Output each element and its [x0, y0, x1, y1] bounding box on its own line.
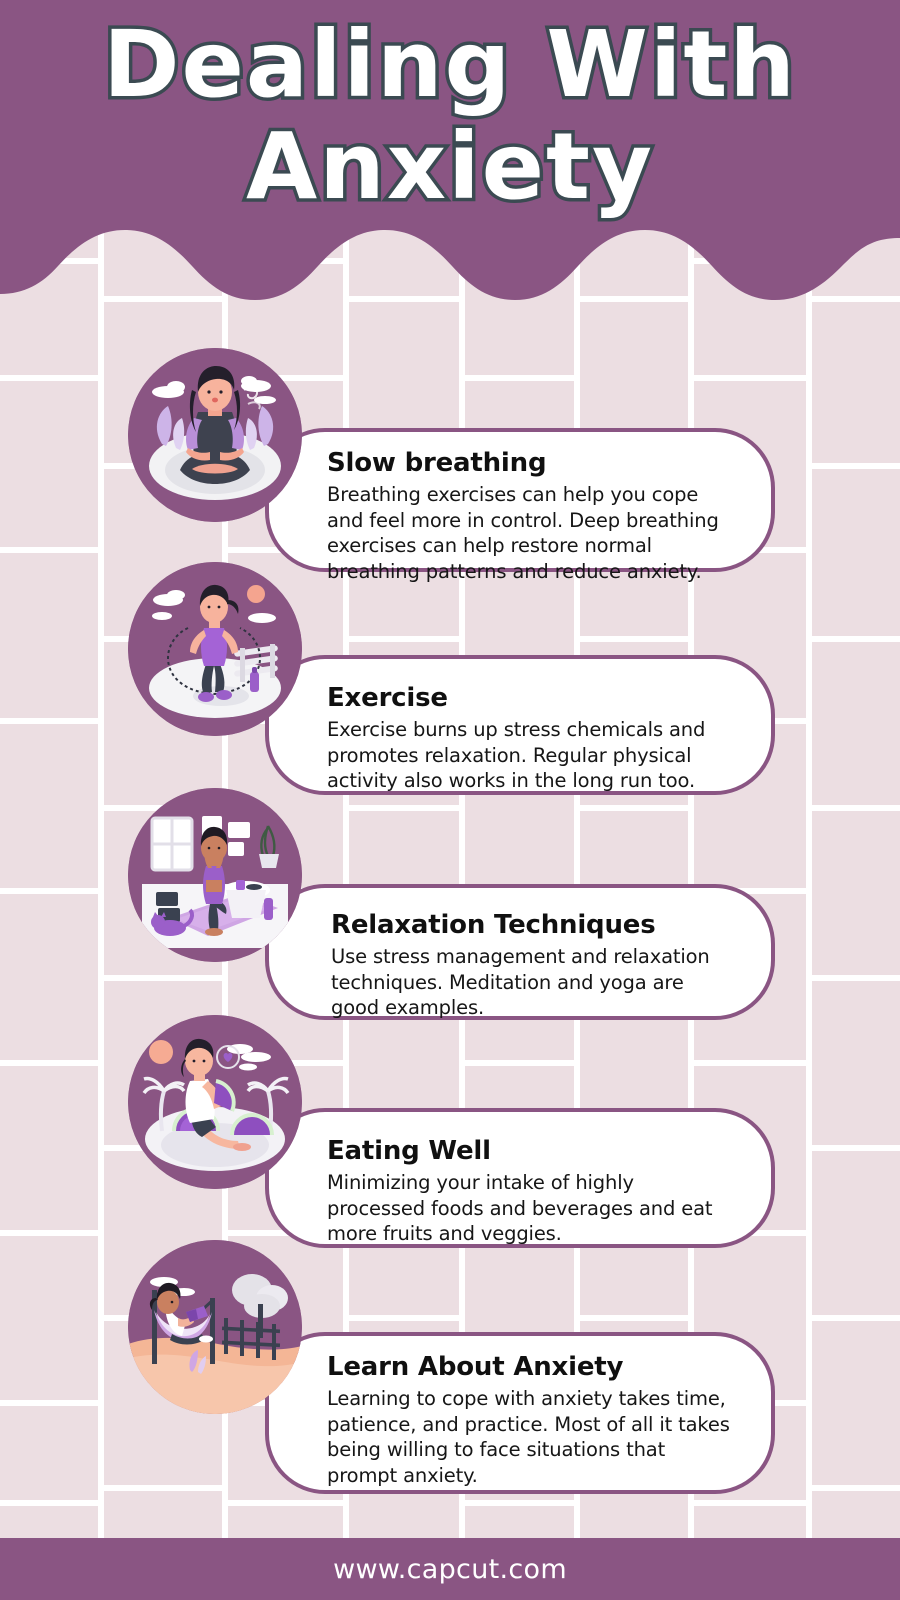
grid-line-horizontal: [0, 1060, 98, 1066]
grid-line-horizontal: [574, 805, 688, 811]
grid-line-horizontal: [806, 463, 900, 469]
grid-line-horizontal: [806, 1485, 900, 1491]
yoga-woman-icon: [128, 788, 302, 962]
footer-url[interactable]: www.capcut.com: [333, 1554, 567, 1585]
grid-line-horizontal: [459, 1500, 574, 1506]
tip-card: Eating Well Minimizing your intake of hi…: [265, 1108, 775, 1248]
tip-card: Exercise Exercise burns up stress chemic…: [265, 655, 775, 795]
grid-line-horizontal: [98, 1485, 222, 1491]
grid-line-horizontal: [574, 636, 688, 642]
grid-line-horizontal: [0, 547, 98, 553]
tip-card: Relaxation Techniques Use stress managem…: [265, 884, 775, 1020]
infographic-poster: Dealing With Anxiety: [0, 0, 900, 1600]
grid-line-horizontal: [0, 1230, 98, 1236]
grid-line-horizontal: [688, 375, 806, 381]
tip-card-heading: Slow breathing: [327, 446, 737, 480]
grid-line-horizontal: [806, 1315, 900, 1321]
grid-line-horizontal: [806, 975, 900, 981]
meditation-woman-icon: [128, 348, 302, 522]
grid-line-horizontal: [98, 975, 222, 981]
grid-line-horizontal: [0, 1400, 98, 1406]
tip-card-body: Minimizing your intake of highly process…: [327, 1170, 737, 1247]
grid-line-horizontal: [343, 636, 459, 642]
watermelon-woman-icon: [128, 1015, 302, 1189]
tip-card: Learn About Anxiety Learning to cope wit…: [265, 1332, 775, 1494]
tip-card-body: Learning to cope with anxiety takes time…: [327, 1386, 737, 1488]
tip-card-heading: Eating Well: [327, 1134, 737, 1168]
grid-line-horizontal: [688, 1060, 806, 1066]
jump-rope-woman-icon: [128, 562, 302, 736]
grid-line-horizontal: [343, 805, 459, 811]
page-title: Dealing With Anxiety: [0, 14, 900, 218]
tip-card-body: Breathing exercises can help you cope an…: [327, 482, 737, 584]
grid-line-horizontal: [0, 888, 98, 894]
grid-line-horizontal: [0, 1500, 98, 1506]
grid-line-horizontal: [806, 805, 900, 811]
tip-card-heading: Relaxation Techniques: [331, 908, 737, 942]
grid-line-horizontal: [0, 718, 98, 724]
hammock-reading-woman-icon: [128, 1240, 302, 1414]
tip-card-heading: Learn About Anxiety: [327, 1350, 737, 1384]
grid-line-horizontal: [806, 1145, 900, 1151]
tip-card: Slow breathing Breathing exercises can h…: [265, 428, 775, 572]
grid-line-horizontal: [0, 375, 98, 381]
title-line-1: Dealing With: [0, 14, 900, 116]
tip-card-body: Use stress management and relaxation tec…: [331, 944, 737, 1021]
tip-card-body: Exercise burns up stress chemicals and p…: [327, 717, 737, 794]
title-line-2: Anxiety: [0, 116, 900, 218]
tip-card-heading: Exercise: [327, 681, 737, 715]
footer-bar: www.capcut.com: [0, 1538, 900, 1600]
grid-line-horizontal: [459, 1060, 574, 1066]
grid-line-horizontal: [222, 1500, 343, 1506]
grid-line-horizontal: [343, 1315, 459, 1321]
grid-line-horizontal: [688, 1500, 806, 1506]
grid-line-horizontal: [574, 1315, 688, 1321]
grid-line-horizontal: [806, 636, 900, 642]
grid-line-horizontal: [459, 375, 574, 381]
